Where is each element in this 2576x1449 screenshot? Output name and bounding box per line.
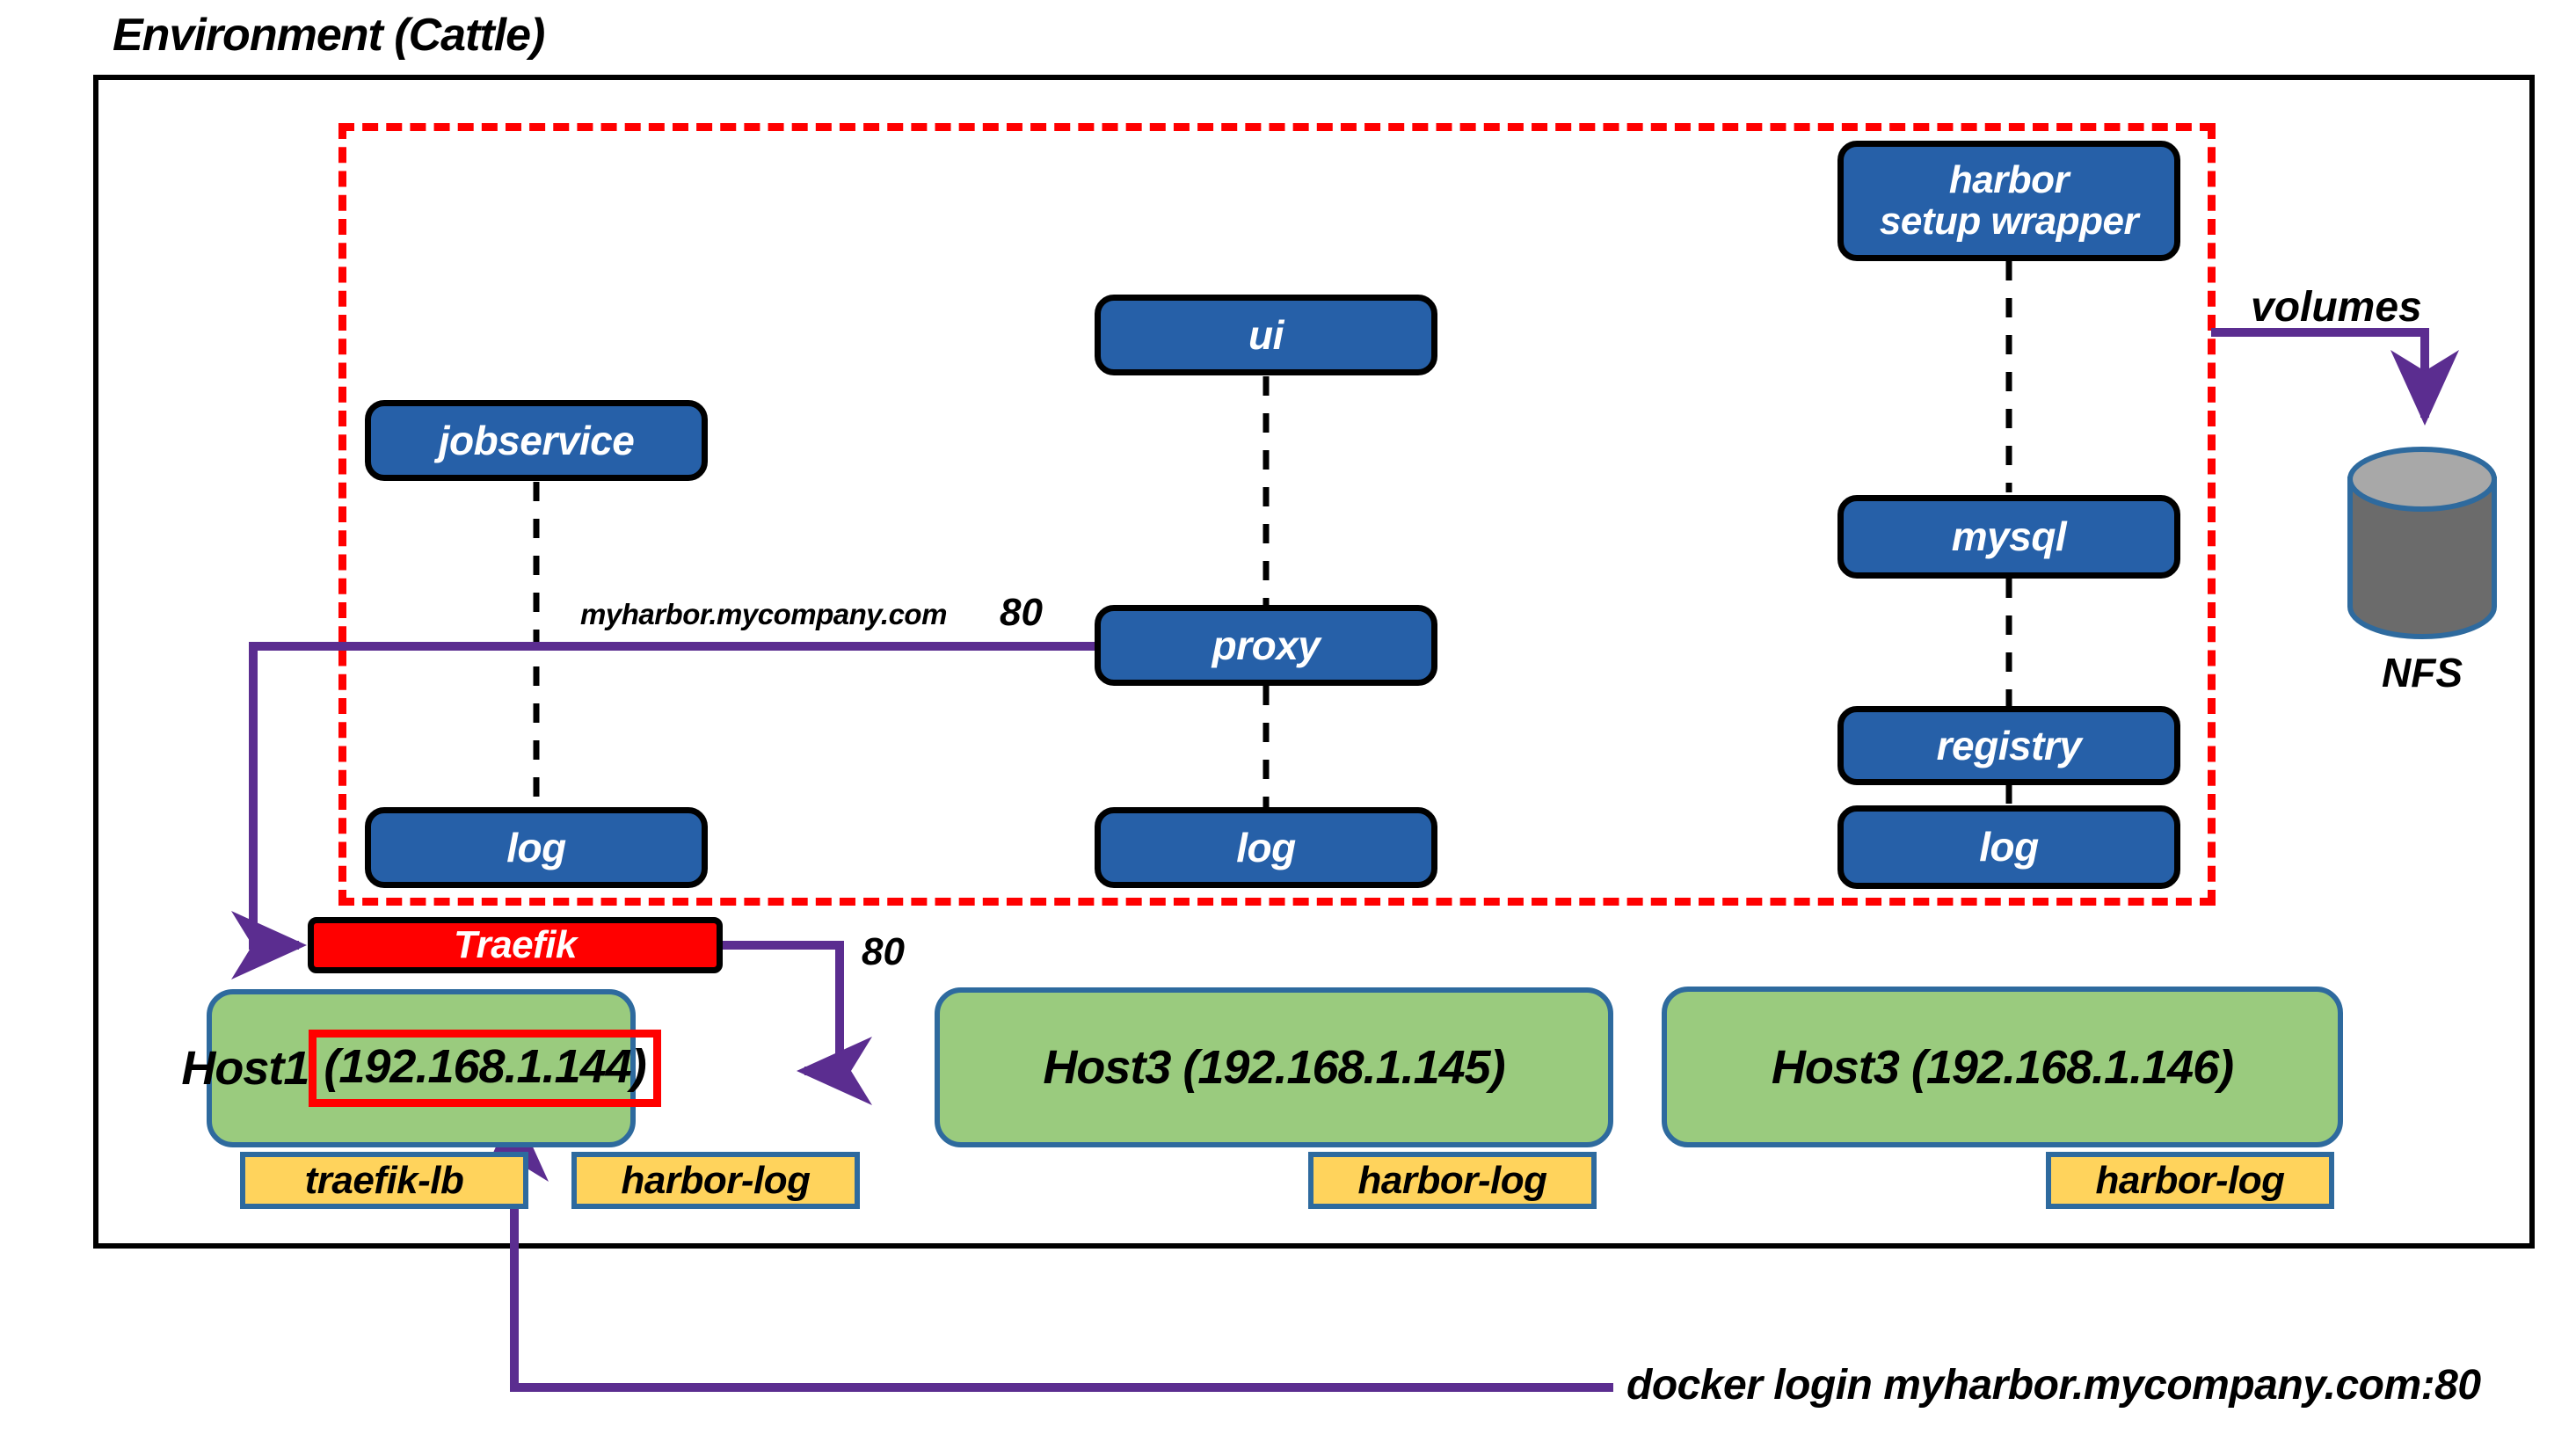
stack-tag-traefik-lb[interactable]: traefik-lb <box>240 1152 528 1209</box>
service-log-left-label: log <box>506 826 565 869</box>
annotation-port-proxy-text: 80 <box>1000 591 1043 634</box>
service-registry[interactable]: registry <box>1837 706 2180 785</box>
host-2-label: Host3 (192.168.1.145) <box>1043 1040 1504 1095</box>
service-log-left[interactable]: log <box>365 807 708 888</box>
service-mysql[interactable]: mysql <box>1837 495 2180 579</box>
annotation-domain: myharbor.mycompany.com <box>580 598 947 631</box>
service-log-right-label: log <box>1979 826 2038 868</box>
volumes-label-text: volumes <box>2251 284 2422 331</box>
stack-tag-harbor-log-host3-label: harbor-log <box>2096 1159 2285 1203</box>
stack-tag-harbor-log-host1[interactable]: harbor-log <box>571 1152 860 1209</box>
service-jobservice-label: jobservice <box>439 419 635 462</box>
service-registry-label: registry <box>1937 724 2082 767</box>
service-harbor-setup-wrapper-label: harbor setup wrapper <box>1880 160 2138 241</box>
stack-tag-harbor-log-host2[interactable]: harbor-log <box>1308 1152 1597 1209</box>
service-harbor-setup-wrapper[interactable]: harbor setup wrapper <box>1837 141 2180 261</box>
nfs-label-text: NFS <box>2382 650 2463 695</box>
service-log-center[interactable]: log <box>1095 807 1437 888</box>
host-2[interactable]: Host3 (192.168.1.145) <box>935 987 1613 1147</box>
annotation-port-traefik: 80 <box>862 930 905 974</box>
stack-tag-harbor-log-host2-label: harbor-log <box>1358 1159 1547 1203</box>
host-3[interactable]: Host3 (192.168.1.146) <box>1662 987 2343 1147</box>
volumes-label: volumes <box>2251 283 2422 331</box>
annotation-port-traefik-text: 80 <box>862 930 905 973</box>
stack-tag-harbor-log-host3[interactable]: harbor-log <box>2046 1152 2334 1209</box>
service-ui[interactable]: ui <box>1095 295 1437 375</box>
service-proxy-label: proxy <box>1212 624 1321 666</box>
stack-tag-traefik-lb-label: traefik-lb <box>305 1159 464 1203</box>
host-1[interactable] <box>207 989 636 1147</box>
stack-tag-harbor-log-host1-label: harbor-log <box>622 1159 811 1203</box>
service-ui-label: ui <box>1248 314 1284 356</box>
annotation-domain-text: myharbor.mycompany.com <box>580 598 947 630</box>
host-3-label: Host3 (192.168.1.146) <box>1772 1040 2233 1095</box>
annotation-docker-login: docker login myharbor.mycompany.com:80 <box>1626 1361 2481 1409</box>
service-log-center-label: log <box>1236 826 1295 869</box>
service-jobservice[interactable]: jobservice <box>365 400 708 481</box>
service-mysql-label: mysql <box>1952 515 2066 557</box>
service-proxy[interactable]: proxy <box>1095 605 1437 686</box>
environment-title: Environment (Cattle) <box>113 9 544 62</box>
annotation-docker-login-text: docker login myharbor.mycompany.com:80 <box>1626 1362 2481 1409</box>
diagram-canvas: Environment (Cattle) <box>0 0 2576 1449</box>
service-log-right[interactable]: log <box>1837 805 2180 889</box>
traefik-label: Traefik <box>454 923 577 967</box>
annotation-port-proxy: 80 <box>1000 591 1043 635</box>
traefik-load-balancer[interactable]: Traefik <box>308 917 723 973</box>
nfs-label: NFS <box>2350 649 2494 696</box>
